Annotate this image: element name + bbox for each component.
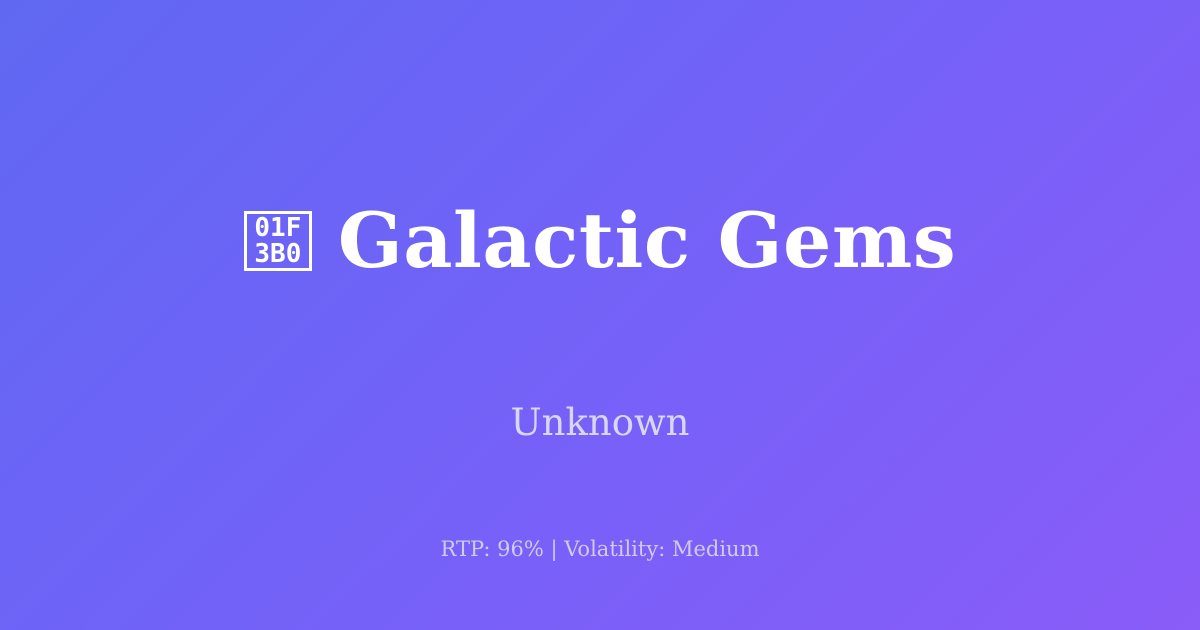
hero-block: 01F 3B0 Galactic Gems Unknown (244, 147, 956, 445)
game-title: Galactic Gems (338, 198, 956, 284)
game-meta-footer: RTP: 96% | Volatility: Medium (0, 536, 1200, 562)
title-row: 01F 3B0 Galactic Gems (244, 147, 956, 335)
tofu-codepoint-top: 01F (254, 215, 301, 241)
tofu-codepoint-bottom: 3B0 (254, 241, 301, 267)
slot-machine-icon: 01F 3B0 (244, 211, 312, 271)
game-provider-subtitle: Unknown (510, 401, 689, 445)
og-preview-card: 01F 3B0 Galactic Gems Unknown RTP: 96% |… (0, 0, 1200, 630)
